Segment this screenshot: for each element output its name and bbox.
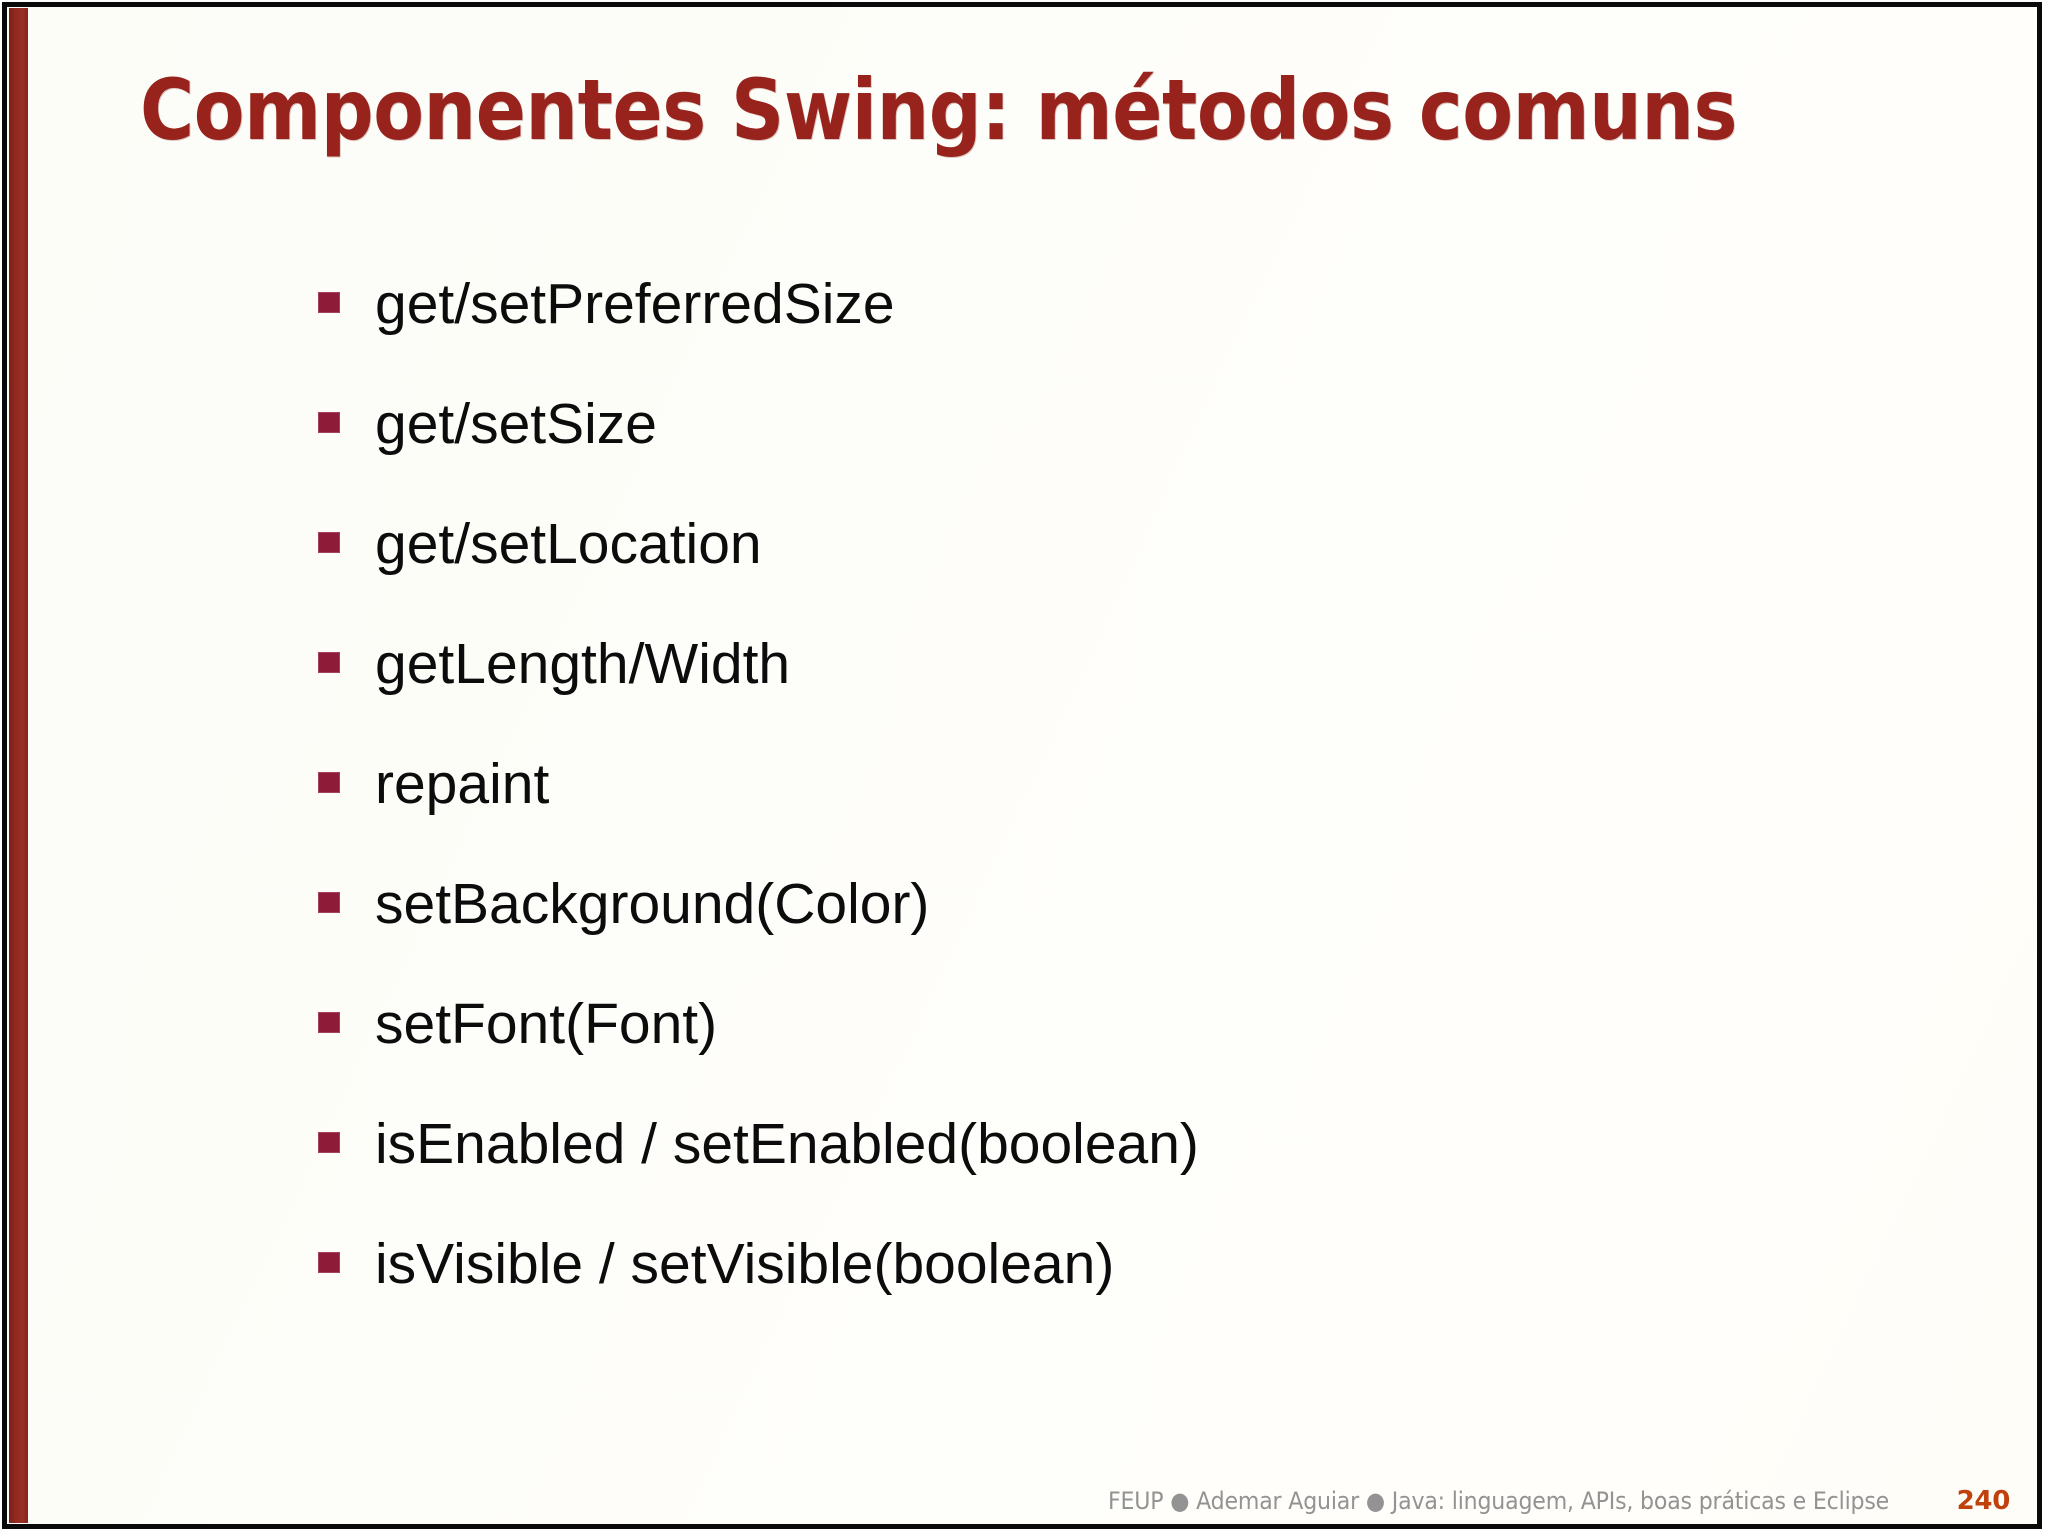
list-item-label: get/setSize bbox=[375, 389, 1918, 459]
list-item: get/setSize bbox=[318, 397, 1918, 517]
left-accent-bar bbox=[9, 8, 28, 1523]
list-item: repaint bbox=[318, 757, 1918, 877]
slide: Componentes Swing: métodos comuns get/se… bbox=[0, 0, 2048, 1535]
list-item-label: setFont(Font) bbox=[375, 989, 1918, 1059]
list-item: setFont(Font) bbox=[318, 997, 1918, 1117]
list-item-label: isVisible / setVisible(boolean) bbox=[375, 1229, 1918, 1299]
slide-footer: FEUP ● Ademar Aguiar ● Java: linguagem, … bbox=[1074, 1486, 2010, 1516]
square-bullet-icon bbox=[318, 1012, 340, 1033]
list-item: isEnabled / setEnabled(boolean) bbox=[318, 1117, 1918, 1237]
square-bullet-icon bbox=[318, 652, 340, 673]
square-bullet-icon bbox=[318, 892, 340, 913]
list-item-label: get/setLocation bbox=[375, 509, 1918, 579]
list-item: getLength/Width bbox=[318, 637, 1918, 757]
page-title: Componentes Swing: métodos comuns bbox=[140, 62, 1742, 158]
square-bullet-icon bbox=[318, 1132, 340, 1153]
list-item: setBackground(Color) bbox=[318, 877, 1918, 997]
square-bullet-icon bbox=[318, 292, 340, 313]
footer-attribution-text: FEUP ● Ademar Aguiar ● Java: linguagem, … bbox=[1108, 1487, 1889, 1515]
list-item-label: getLength/Width bbox=[375, 629, 1918, 699]
bullet-list: get/setPreferredSize get/setSize get/set… bbox=[318, 277, 1918, 1357]
square-bullet-icon bbox=[318, 532, 340, 553]
slide-page-number: 240 bbox=[1957, 1486, 2010, 1516]
square-bullet-icon bbox=[318, 1252, 340, 1273]
list-item-label: repaint bbox=[375, 749, 1918, 819]
list-item: get/setPreferredSize bbox=[318, 277, 1918, 397]
list-item-label: setBackground(Color) bbox=[375, 869, 1918, 939]
square-bullet-icon bbox=[318, 412, 340, 433]
list-item-label: get/setPreferredSize bbox=[375, 269, 1918, 339]
list-item: isVisible / setVisible(boolean) bbox=[318, 1237, 1918, 1357]
list-item-label: isEnabled / setEnabled(boolean) bbox=[375, 1109, 1918, 1179]
square-bullet-icon bbox=[318, 772, 340, 793]
list-item: get/setLocation bbox=[318, 517, 1918, 637]
